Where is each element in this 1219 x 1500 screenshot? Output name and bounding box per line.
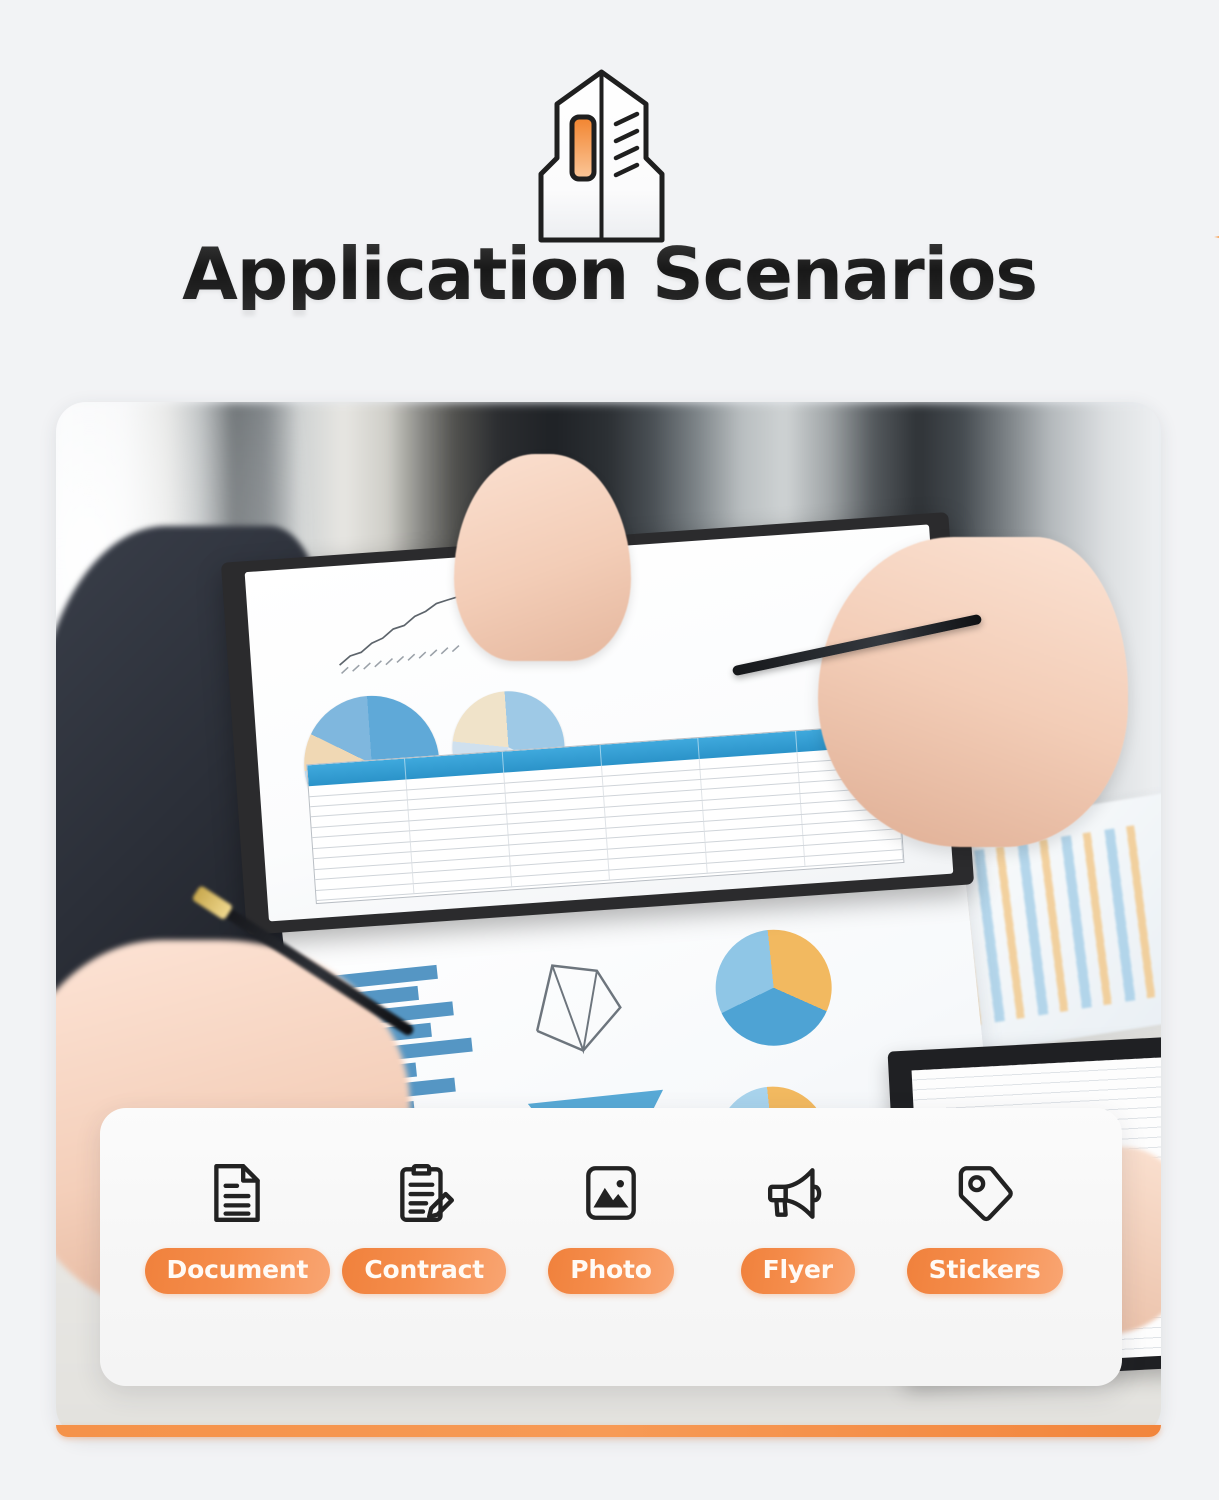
- scenario-item-document[interactable]: Document: [144, 1160, 331, 1294]
- megaphone-icon: [765, 1160, 831, 1226]
- hand-with-pen-right: [818, 537, 1127, 848]
- scenario-label-stickers[interactable]: Stickers: [907, 1248, 1063, 1294]
- scenario-label-contract[interactable]: Contract: [342, 1248, 506, 1294]
- image-icon: [578, 1160, 644, 1226]
- page-title: Application Scenarios: [182, 238, 1037, 310]
- document-icon: [204, 1160, 270, 1226]
- tag-icon: [952, 1160, 1018, 1226]
- scenario-item-flyer[interactable]: Flyer: [704, 1160, 891, 1294]
- building-tower-icon: [494, 62, 709, 247]
- application-scenarios-page: Application Scenarios: [0, 0, 1219, 1500]
- clipboard-pen-icon: [391, 1160, 457, 1226]
- scenario-label-photo[interactable]: Photo: [548, 1248, 673, 1294]
- scenario-tag-card: Document Contract: [100, 1108, 1122, 1386]
- scenario-item-photo[interactable]: Photo: [518, 1160, 705, 1294]
- report-pie-1: [710, 924, 838, 1052]
- scenario-tag-grid: Document Contract: [100, 1160, 1122, 1294]
- scenario-label-document[interactable]: Document: [145, 1248, 331, 1294]
- sparkle-star-icon: [1211, 210, 1219, 264]
- title-row: Application Scenarios: [0, 238, 1219, 310]
- photo-accent-bar: [56, 1425, 1161, 1437]
- scenario-item-contract[interactable]: Contract: [331, 1160, 518, 1294]
- scenario-item-stickers[interactable]: Stickers: [891, 1160, 1078, 1294]
- report-network-diagram: [504, 934, 667, 1071]
- header: Application Scenarios: [0, 0, 1219, 372]
- scenario-label-flyer[interactable]: Flyer: [741, 1248, 855, 1294]
